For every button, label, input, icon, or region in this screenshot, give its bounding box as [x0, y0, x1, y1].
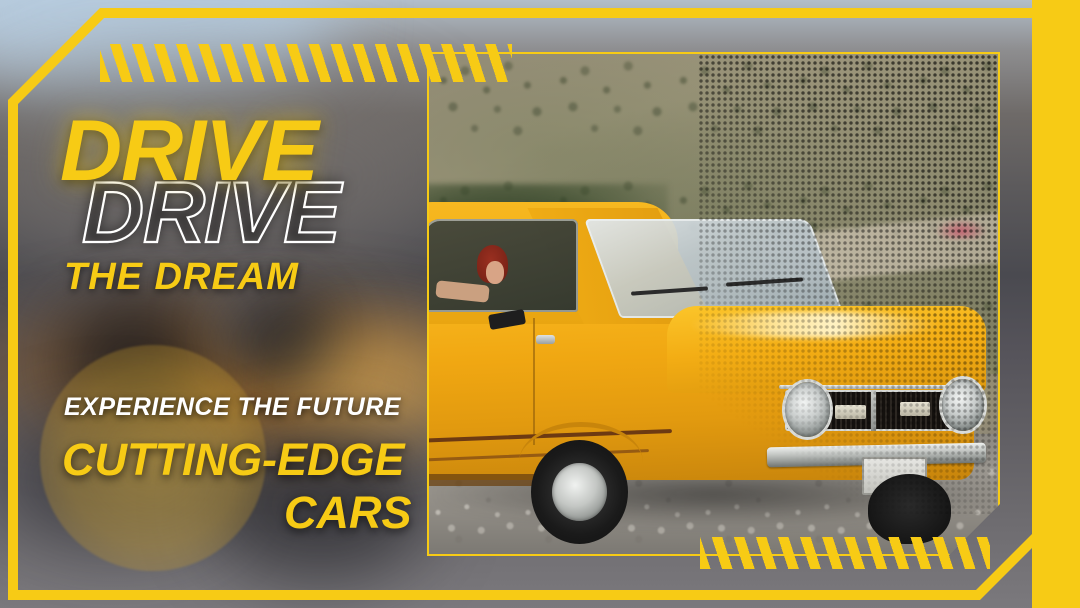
- car-grille-divider: [871, 390, 876, 431]
- car-door-seam: [533, 318, 535, 446]
- car-door-handle: [536, 335, 555, 344]
- background-blob-dark-1: [60, 300, 210, 420]
- car-turn-signal-right: [900, 402, 930, 417]
- frame-right-band: [1032, 0, 1080, 608]
- frame-left-band: [0, 0, 10, 608]
- car-turn-signal-left: [835, 405, 866, 420]
- hero-photo: [429, 54, 998, 554]
- car-front-wheel: [868, 474, 951, 544]
- background-blob-dark-4: [210, 430, 430, 580]
- car-rear-wheel: [531, 440, 629, 544]
- photo-pink-canopy: [935, 219, 986, 239]
- poster-canvas: DRIVE DRIVE THE DREAM EXPERIENCE THE FUT…: [0, 0, 1080, 608]
- car-hood-highlight: [690, 312, 939, 338]
- car-headlight-right: [942, 379, 985, 431]
- background-blob-dark-3: [0, 415, 230, 545]
- car-illustration: [429, 254, 998, 544]
- car-windshield: [584, 219, 845, 318]
- hero-photo-frame: [427, 52, 1000, 556]
- car-headlight-left: [785, 382, 830, 437]
